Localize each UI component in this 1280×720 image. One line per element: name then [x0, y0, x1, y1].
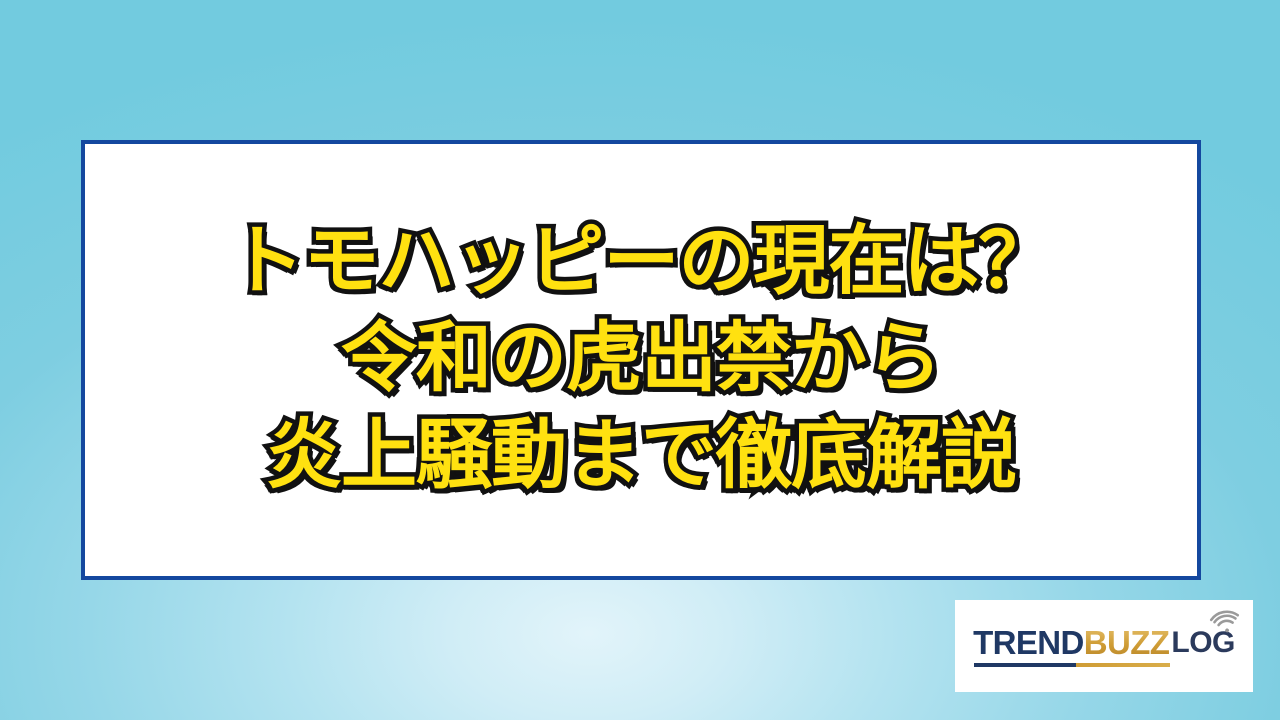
brand-word-buzz: BUZZ: [1084, 626, 1170, 660]
brand-word-log: LOG: [1171, 628, 1235, 667]
brand-underline-rule: [974, 663, 1170, 667]
title-card: トモハッピーの現在は？ 令和の虎出禁から 炎上騒動まで徹底解説: [81, 140, 1201, 580]
title-line-3: 炎上騒動まで徹底解説: [85, 406, 1197, 503]
title-line-2: 令和の虎出禁から: [85, 309, 1197, 406]
brand-wordmark: TRENDBUZZ: [973, 626, 1169, 667]
title-line-1: トモハッピーの現在は？: [85, 212, 1197, 309]
brand-logo-plate: TRENDBUZZ LOG: [955, 600, 1253, 692]
brand-logo: TRENDBUZZ LOG: [967, 626, 1241, 667]
brand-word-trend: TREND: [973, 626, 1084, 660]
wifi-signal-icon: [1206, 598, 1245, 637]
title-text-block: トモハッピーの現在は？ 令和の虎出禁から 炎上騒動まで徹底解説: [85, 212, 1197, 509]
poster-canvas: トモハッピーの現在は？ 令和の虎出禁から 炎上騒動まで徹底解説 TRENDBUZ…: [0, 0, 1280, 720]
